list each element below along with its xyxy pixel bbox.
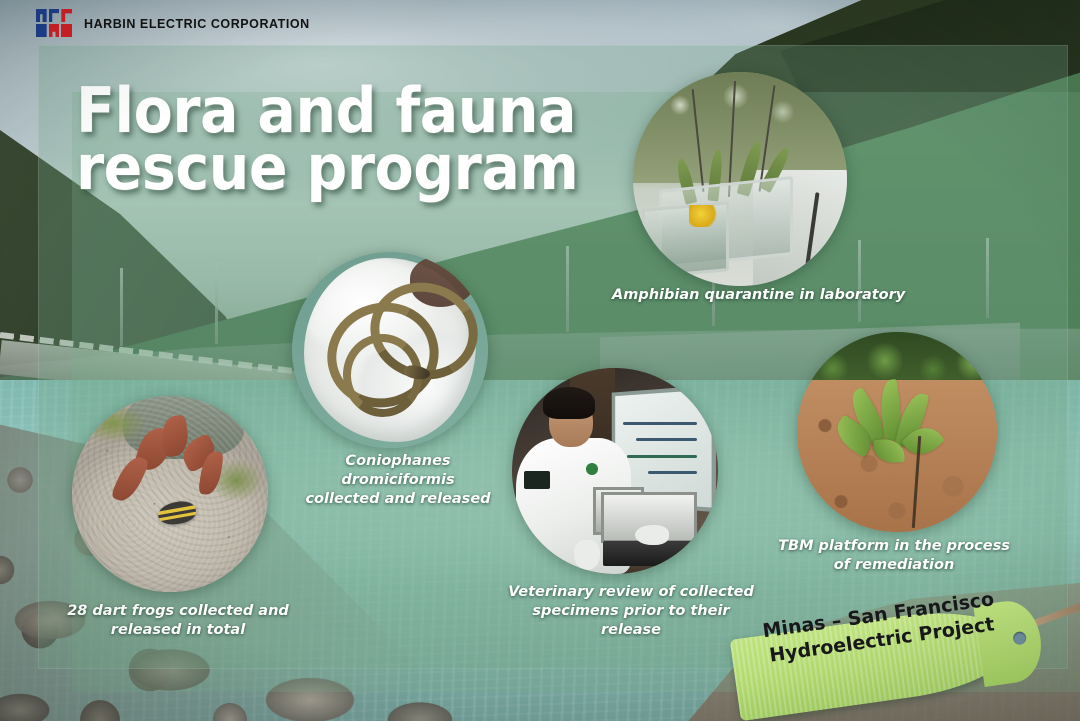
whiteboard-writing (623, 422, 697, 425)
person-hair (543, 387, 595, 419)
gloved-hand (574, 540, 600, 570)
gloved-hand (635, 525, 669, 545)
caption-amphibian-quarantine: Amphibian quarantine in laboratory (612, 286, 905, 305)
page-title: Flora and fauna rescue program (76, 82, 578, 196)
yellow-flower (689, 205, 719, 227)
whiteboard-writing (648, 471, 697, 474)
project-tag: Minas – San Francisco Hydroelectric Proj… (716, 606, 1056, 718)
snake-photo (292, 252, 488, 448)
dart-frog-photo (72, 396, 268, 592)
coat-patch (524, 471, 550, 489)
tree-line (797, 332, 997, 384)
caption-tbm-remediation: TBM platform in the process of remediati… (772, 537, 1016, 575)
coat-badge (586, 463, 598, 475)
veterinary-review-photo (512, 368, 718, 574)
amphibian-quarantine-photo (633, 72, 847, 286)
moss-patch (80, 404, 147, 443)
company-name: HARBIN ELECTRIC CORPORATION (84, 17, 310, 31)
caption-dart-frogs: 28 dart frogs collected and released in … (58, 602, 298, 640)
caption-snake: Coniophanes dromiciformis collected and … (292, 452, 504, 509)
slide-canvas: HARBIN ELECTRIC CORPORATION Flora and fa… (0, 0, 1080, 721)
header-bar: HARBIN ELECTRIC CORPORATION (0, 0, 1080, 42)
harbin-electric-logo-icon (36, 9, 72, 37)
sapling-remediation-photo (797, 332, 997, 532)
whiteboard-writing (636, 438, 698, 441)
foliage-backdrop (633, 72, 847, 183)
whiteboard-writing (627, 455, 697, 458)
